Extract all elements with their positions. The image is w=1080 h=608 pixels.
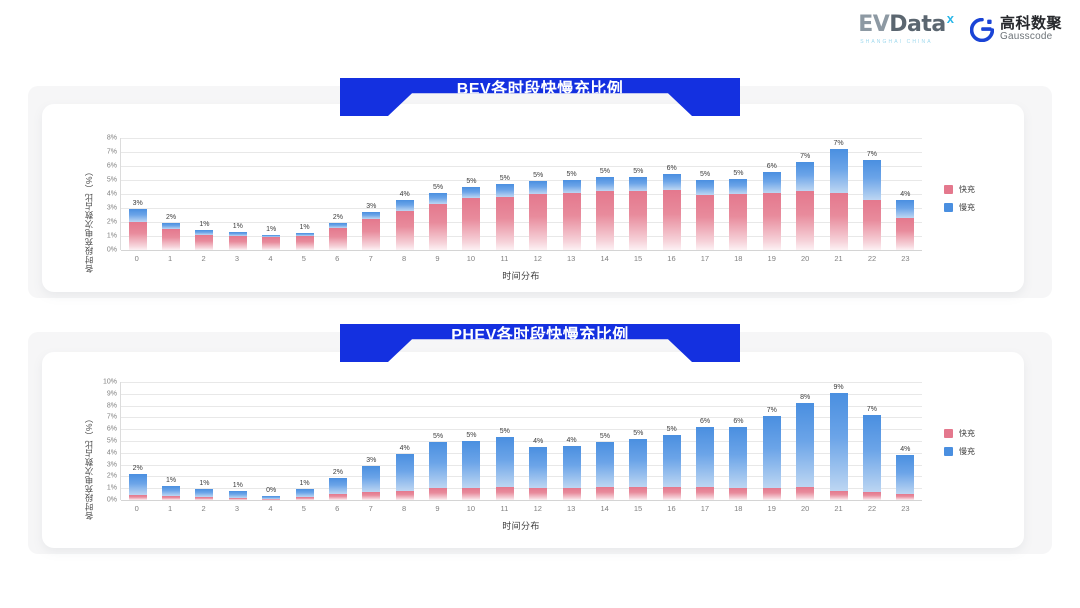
chart-legend-phev: 快充 慢充	[944, 428, 975, 457]
x-tick-phev-19: 19	[755, 504, 788, 513]
bar-phev-22[interactable]: 7%	[855, 382, 888, 500]
bar-segment-slow-phev	[229, 491, 247, 498]
bar-segment-slow-bev	[429, 193, 447, 204]
x-tick-phev-1: 1	[153, 504, 186, 513]
bar-stack-phev	[496, 382, 514, 500]
bar-value-label-bev: 7%	[867, 151, 877, 158]
chart-phev: 各时段充电次数占比（%） 0%1%2%3%4%5%6%7%8%9%10% 2%1…	[82, 382, 922, 534]
x-tick-bev-23: 23	[889, 254, 922, 263]
bar-bev-22[interactable]: 7%	[855, 138, 888, 250]
x-tick-bev-1: 1	[153, 254, 186, 263]
bar-segment-slow-phev	[696, 427, 714, 487]
bar-stack-bev	[229, 138, 247, 250]
bar-stack-phev	[696, 382, 714, 500]
bar-value-label-phev: 2%	[333, 469, 343, 476]
slide-page: EVData x shanghai china 高科数聚 Gausscode B…	[0, 0, 1080, 608]
bar-stack-bev	[362, 138, 380, 250]
y-tick-bev: 7%	[107, 149, 117, 156]
bar-segment-fast-bev	[896, 218, 914, 250]
x-tick-phev-12: 12	[521, 504, 554, 513]
x-tick-bev-19: 19	[755, 254, 788, 263]
bar-segment-fast-bev	[496, 197, 514, 250]
bar-value-label-phev: 1%	[199, 480, 209, 487]
bar-value-label-bev: 1%	[266, 226, 276, 233]
bar-segment-fast-phev	[529, 488, 547, 500]
x-tick-phev-17: 17	[688, 504, 721, 513]
bar-phev-19[interactable]: 7%	[755, 382, 788, 500]
bar-stack-phev	[830, 382, 848, 500]
bar-segment-fast-phev	[362, 492, 380, 500]
x-tick-phev-22: 22	[855, 504, 888, 513]
gridline-bev	[121, 250, 922, 251]
x-tick-phev-13: 13	[554, 504, 587, 513]
bar-bev-16[interactable]: 6%	[655, 138, 688, 250]
bar-phev-23[interactable]: 4%	[889, 382, 922, 500]
bar-segment-fast-phev	[129, 495, 147, 500]
bar-value-label-phev: 6%	[733, 418, 743, 425]
bar-value-label-phev: 3%	[366, 457, 376, 464]
bar-stack-phev	[396, 382, 414, 500]
bar-segment-slow-bev	[563, 180, 581, 193]
bar-bev-9[interactable]: 5%	[421, 138, 454, 250]
plot-grid-bev: 3%2%1%1%1%1%2%3%4%5%5%5%5%5%5%5%6%5%5%6%…	[120, 138, 922, 250]
x-tick-phev-11: 11	[488, 504, 521, 513]
y-tick-bev: 4%	[107, 191, 117, 198]
bar-value-label-bev: 5%	[600, 168, 610, 175]
bar-stack-bev	[262, 138, 280, 250]
brand-logo-bar: EVData x shanghai china 高科数聚 Gausscode	[858, 14, 1062, 45]
evdata-wordmark: EVData x	[858, 14, 954, 36]
bar-segment-fast-bev	[663, 190, 681, 250]
bar-value-label-bev: 6%	[767, 163, 777, 170]
bar-stack-phev	[462, 382, 480, 500]
x-tick-phev-0: 0	[120, 504, 153, 513]
x-tick-bev-16: 16	[655, 254, 688, 263]
bar-value-label-phev: 1%	[300, 480, 310, 487]
bar-stack-phev	[896, 382, 914, 500]
bar-segment-fast-phev	[830, 491, 848, 500]
x-tick-bev-3: 3	[220, 254, 253, 263]
gausscode-en-name: Gausscode	[1000, 32, 1062, 43]
bar-stack-phev	[663, 382, 681, 500]
bar-stack-bev	[763, 138, 781, 250]
bar-value-label-bev: 6%	[667, 165, 677, 172]
x-tick-phev-23: 23	[889, 504, 922, 513]
x-tick-phev-9: 9	[421, 504, 454, 513]
bar-phev-2[interactable]: 1%	[188, 382, 221, 500]
bar-bev-12[interactable]: 5%	[522, 138, 555, 250]
bar-segment-slow-phev	[462, 441, 480, 488]
bar-segment-fast-phev	[429, 488, 447, 500]
bar-segment-slow-bev	[496, 184, 514, 197]
bar-phev-18[interactable]: 6%	[722, 382, 755, 500]
legend-swatch-slow-bev	[944, 203, 953, 212]
bar-segment-fast-phev	[296, 497, 314, 500]
y-tick-bev: 6%	[107, 163, 117, 170]
bar-value-label-phev: 4%	[533, 438, 543, 445]
x-tick-bev-20: 20	[788, 254, 821, 263]
bar-bev-6[interactable]: 2%	[321, 138, 354, 250]
bar-phev-7[interactable]: 3%	[355, 382, 388, 500]
bar-phev-11[interactable]: 5%	[488, 382, 521, 500]
bar-segment-slow-bev	[729, 179, 747, 194]
bar-stack-bev	[663, 138, 681, 250]
bar-value-label-bev: 4%	[400, 191, 410, 198]
bar-value-label-bev: 3%	[366, 203, 376, 210]
y-tick-phev: 3%	[107, 461, 117, 468]
bar-segment-fast-bev	[229, 236, 247, 250]
bar-bev-19[interactable]: 6%	[755, 138, 788, 250]
evdata-tagline: shanghai china	[860, 39, 932, 45]
legend-swatch-slow-phev	[944, 447, 953, 456]
x-tick-bev-8: 8	[387, 254, 420, 263]
bar-bev-18[interactable]: 5%	[722, 138, 755, 250]
bar-segment-fast-phev	[195, 497, 213, 500]
evdata-text: EVData	[858, 14, 946, 36]
bar-phev-14[interactable]: 5%	[588, 382, 621, 500]
bar-value-label-bev: 2%	[333, 214, 343, 221]
bar-phev-13[interactable]: 4%	[555, 382, 588, 500]
bar-segment-fast-bev	[262, 237, 280, 250]
y-axis-ticks-bev: 0%1%2%3%4%5%6%7%8%	[96, 138, 120, 284]
bar-value-label-bev: 5%	[466, 178, 476, 185]
x-tick-phev-4: 4	[254, 504, 287, 513]
bar-segment-slow-phev	[129, 474, 147, 495]
bar-value-label-bev: 5%	[567, 171, 577, 178]
bar-stack-bev	[496, 138, 514, 250]
bar-stack-bev	[563, 138, 581, 250]
bar-stack-bev	[629, 138, 647, 250]
bar-stack-bev	[296, 138, 314, 250]
bar-stack-phev	[629, 382, 647, 500]
x-tick-phev-21: 21	[822, 504, 855, 513]
bar-segment-fast-bev	[396, 211, 414, 250]
x-tick-phev-14: 14	[588, 504, 621, 513]
bar-segment-fast-bev	[563, 193, 581, 250]
bar-segment-fast-bev	[296, 236, 314, 250]
x-tick-phev-18: 18	[722, 504, 755, 513]
x-tick-phev-3: 3	[220, 504, 253, 513]
bar-segment-slow-bev	[830, 149, 848, 192]
bar-segment-slow-phev	[529, 447, 547, 488]
bar-segment-fast-phev	[896, 494, 914, 500]
bar-bev-3[interactable]: 1%	[221, 138, 254, 250]
bar-segment-fast-phev	[763, 488, 781, 500]
legend-label-slow-phev: 慢充	[959, 446, 975, 457]
bar-phev-1[interactable]: 1%	[154, 382, 187, 500]
gausscode-logo: 高科数聚 Gausscode	[970, 16, 1062, 42]
y-tick-phev: 0%	[107, 497, 117, 504]
bar-segment-slow-bev	[129, 209, 147, 222]
x-tick-bev-21: 21	[822, 254, 855, 263]
x-tick-phev-20: 20	[788, 504, 821, 513]
bar-segment-slow-phev	[329, 478, 347, 495]
bar-stack-phev	[863, 382, 881, 500]
plot-area-phev: 2%1%1%1%0%1%2%3%4%5%5%5%4%4%5%5%5%6%6%7%…	[120, 382, 922, 534]
legend-label-fast-bev: 快充	[959, 184, 975, 195]
y-tick-phev: 2%	[107, 473, 117, 480]
bar-value-label-phev: 4%	[567, 437, 577, 444]
bar-segment-slow-phev	[863, 415, 881, 492]
bar-segment-fast-phev	[262, 499, 280, 500]
bar-segment-slow-phev	[596, 442, 614, 487]
bar-group-bev: 3%2%1%1%1%1%2%3%4%5%5%5%5%5%5%5%6%5%5%6%…	[121, 138, 922, 250]
bar-bev-17[interactable]: 5%	[688, 138, 721, 250]
bar-segment-fast-bev	[529, 194, 547, 250]
bar-value-label-bev: 5%	[533, 172, 543, 179]
bar-bev-1[interactable]: 2%	[154, 138, 187, 250]
bar-value-label-bev: 7%	[834, 140, 844, 147]
legend-swatch-fast-bev	[944, 185, 953, 194]
y-tick-bev: 8%	[107, 135, 117, 142]
bar-value-label-phev: 2%	[133, 465, 143, 472]
bar-value-label-phev: 0%	[266, 487, 276, 494]
bar-segment-fast-phev	[596, 487, 614, 500]
y-tick-phev: 10%	[103, 379, 117, 386]
bar-stack-phev	[129, 382, 147, 500]
bar-segment-slow-bev	[696, 180, 714, 195]
x-tick-phev-8: 8	[387, 504, 420, 513]
bar-value-label-phev: 5%	[466, 432, 476, 439]
bar-stack-phev	[763, 382, 781, 500]
bar-segment-fast-bev	[763, 193, 781, 250]
bar-stack-bev	[529, 138, 547, 250]
x-tick-phev-16: 16	[655, 504, 688, 513]
legend-item-slow-bev[interactable]: 慢充	[944, 202, 975, 213]
bar-segment-fast-bev	[362, 219, 380, 250]
bar-segment-fast-phev	[496, 487, 514, 500]
y-tick-phev: 1%	[107, 485, 117, 492]
bar-value-label-phev: 8%	[800, 394, 810, 401]
bar-segment-fast-bev	[329, 228, 347, 250]
bar-value-label-bev: 5%	[633, 168, 643, 175]
bar-stack-bev	[195, 138, 213, 250]
bar-segment-slow-phev	[195, 489, 213, 497]
bar-segment-slow-phev	[629, 439, 647, 487]
x-tick-bev-9: 9	[421, 254, 454, 263]
bar-segment-fast-phev	[729, 488, 747, 500]
bar-bev-23[interactable]: 4%	[889, 138, 922, 250]
x-tick-bev-22: 22	[855, 254, 888, 263]
bar-segment-slow-bev	[529, 181, 547, 194]
evdata-logo: EVData x shanghai china	[858, 14, 954, 45]
bar-value-label-bev: 1%	[300, 224, 310, 231]
bar-phev-15[interactable]: 5%	[622, 382, 655, 500]
bar-phev-16[interactable]: 5%	[655, 382, 688, 500]
evdata-data-part: Data	[889, 12, 945, 37]
x-tick-bev-4: 4	[254, 254, 287, 263]
bar-stack-phev	[729, 382, 747, 500]
bar-value-label-bev: 5%	[700, 171, 710, 178]
bar-segment-fast-phev	[396, 491, 414, 500]
bar-segment-fast-bev	[462, 198, 480, 250]
bar-segment-slow-phev	[796, 403, 814, 487]
bar-value-label-phev: 5%	[600, 433, 610, 440]
bar-stack-bev	[129, 138, 147, 250]
bar-segment-slow-phev	[896, 455, 914, 494]
legend-item-fast-bev[interactable]: 快充	[944, 184, 975, 195]
x-axis-label-bev: 时间分布	[120, 269, 922, 282]
bar-stack-bev	[462, 138, 480, 250]
y-tick-phev: 8%	[107, 402, 117, 409]
bar-bev-11[interactable]: 5%	[488, 138, 521, 250]
bar-value-label-phev: 4%	[900, 446, 910, 453]
bar-value-label-phev: 6%	[700, 418, 710, 425]
x-tick-phev-15: 15	[621, 504, 654, 513]
bar-segment-fast-bev	[429, 204, 447, 250]
bar-stack-bev	[162, 138, 180, 250]
bar-bev-14[interactable]: 5%	[588, 138, 621, 250]
legend-item-fast-phev[interactable]: 快充	[944, 428, 975, 439]
bar-stack-bev	[429, 138, 447, 250]
x-tick-bev-14: 14	[588, 254, 621, 263]
bar-segment-fast-phev	[863, 492, 881, 500]
bar-value-label-bev: 7%	[800, 153, 810, 160]
bar-value-label-phev: 5%	[633, 430, 643, 437]
x-axis-ticks-bev: 01234567891011121314151617181920212223	[120, 254, 922, 263]
bar-segment-slow-bev	[763, 172, 781, 193]
bar-segment-slow-bev	[596, 177, 614, 191]
bar-phev-9[interactable]: 5%	[421, 382, 454, 500]
bar-phev-17[interactable]: 6%	[688, 382, 721, 500]
x-tick-phev-2: 2	[187, 504, 220, 513]
y-tick-phev: 9%	[107, 390, 117, 397]
bar-segment-fast-bev	[162, 229, 180, 250]
bar-stack-bev	[596, 138, 614, 250]
x-tick-bev-2: 2	[187, 254, 220, 263]
bar-segment-slow-phev	[496, 437, 514, 487]
bar-value-label-bev: 5%	[500, 175, 510, 182]
bar-bev-5[interactable]: 1%	[288, 138, 321, 250]
bar-segment-fast-bev	[796, 191, 814, 250]
bar-segment-fast-phev	[696, 487, 714, 500]
bar-bev-4[interactable]: 1%	[255, 138, 288, 250]
bar-segment-fast-phev	[796, 487, 814, 500]
y-tick-bev: 2%	[107, 219, 117, 226]
x-tick-bev-10: 10	[454, 254, 487, 263]
bar-value-label-phev: 9%	[834, 384, 844, 391]
bar-segment-slow-phev	[429, 442, 447, 488]
bar-segment-fast-phev	[629, 487, 647, 500]
legend-label-fast-phev: 快充	[959, 428, 975, 439]
x-tick-phev-10: 10	[454, 504, 487, 513]
y-axis-label-phev: 各时段充电次数占比（%）	[82, 382, 96, 534]
bar-segment-slow-phev	[162, 486, 180, 497]
bar-segment-fast-bev	[129, 222, 147, 250]
y-axis-ticks-phev: 0%1%2%3%4%5%6%7%8%9%10%	[96, 382, 120, 534]
bar-segment-fast-phev	[462, 488, 480, 500]
bar-phev-0[interactable]: 2%	[121, 382, 154, 500]
x-tick-bev-11: 11	[488, 254, 521, 263]
bar-segment-fast-phev	[329, 494, 347, 500]
bar-stack-phev	[362, 382, 380, 500]
bar-stack-bev	[729, 138, 747, 250]
x-axis-label-phev: 时间分布	[120, 519, 922, 532]
plot-area-bev: 3%2%1%1%1%1%2%3%4%5%5%5%5%5%5%5%6%5%5%6%…	[120, 138, 922, 284]
bar-value-label-bev: 1%	[199, 221, 209, 228]
bar-value-label-phev: 5%	[500, 428, 510, 435]
bar-bev-20[interactable]: 7%	[789, 138, 822, 250]
bar-segment-fast-phev	[563, 488, 581, 500]
bar-phev-3[interactable]: 1%	[221, 382, 254, 500]
x-tick-phev-5: 5	[287, 504, 320, 513]
y-tick-phev: 4%	[107, 449, 117, 456]
evdata-superscript-x: x	[947, 11, 954, 26]
x-tick-bev-18: 18	[722, 254, 755, 263]
bar-value-label-bev: 1%	[233, 223, 243, 230]
bar-segment-slow-bev	[629, 177, 647, 191]
bar-bev-15[interactable]: 5%	[622, 138, 655, 250]
bar-value-label-bev: 4%	[900, 191, 910, 198]
bar-phev-4[interactable]: 0%	[255, 382, 288, 500]
y-tick-bev: 5%	[107, 177, 117, 184]
bar-bev-0[interactable]: 3%	[121, 138, 154, 250]
bar-value-label-bev: 2%	[166, 214, 176, 221]
legend-item-slow-phev[interactable]: 慢充	[944, 446, 975, 457]
y-tick-phev: 5%	[107, 438, 117, 445]
bar-segment-slow-phev	[729, 427, 747, 488]
bar-segment-fast-phev	[229, 498, 247, 500]
bar-bev-8[interactable]: 4%	[388, 138, 421, 250]
bar-phev-5[interactable]: 1%	[288, 382, 321, 500]
bar-phev-12[interactable]: 4%	[522, 382, 555, 500]
bar-bev-7[interactable]: 3%	[355, 138, 388, 250]
x-tick-bev-6: 6	[321, 254, 354, 263]
y-tick-phev: 7%	[107, 414, 117, 421]
gridline-phev	[121, 500, 922, 501]
bar-value-label-phev: 5%	[667, 426, 677, 433]
bar-segment-slow-bev	[863, 160, 881, 199]
bar-segment-slow-phev	[763, 416, 781, 488]
gausscode-text: 高科数聚 Gausscode	[1000, 16, 1062, 42]
bar-stack-bev	[696, 138, 714, 250]
bar-bev-10[interactable]: 5%	[455, 138, 488, 250]
legend-swatch-fast-phev	[944, 429, 953, 438]
bar-stack-phev	[429, 382, 447, 500]
bar-phev-8[interactable]: 4%	[388, 382, 421, 500]
bar-phev-6[interactable]: 2%	[321, 382, 354, 500]
bar-segment-fast-bev	[696, 195, 714, 250]
bar-phev-21[interactable]: 9%	[822, 382, 855, 500]
bar-value-label-bev: 3%	[133, 200, 143, 207]
bar-segment-slow-bev	[396, 200, 414, 211]
x-tick-bev-0: 0	[120, 254, 153, 263]
bar-segment-slow-bev	[796, 162, 814, 191]
bar-bev-2[interactable]: 1%	[188, 138, 221, 250]
bar-segment-slow-bev	[362, 212, 380, 219]
bar-bev-13[interactable]: 5%	[555, 138, 588, 250]
y-tick-phev: 6%	[107, 426, 117, 433]
bar-phev-10[interactable]: 5%	[455, 382, 488, 500]
x-tick-phev-6: 6	[321, 504, 354, 513]
bar-value-label-bev: 5%	[433, 184, 443, 191]
bar-value-label-phev: 7%	[767, 407, 777, 414]
bar-segment-slow-phev	[663, 435, 681, 487]
bar-segment-slow-bev	[663, 174, 681, 189]
bar-phev-20[interactable]: 8%	[789, 382, 822, 500]
bar-segment-slow-bev	[462, 187, 480, 198]
y-tick-bev: 0%	[107, 247, 117, 254]
bar-segment-fast-bev	[729, 194, 747, 250]
bar-segment-slow-bev	[896, 200, 914, 218]
x-tick-phev-7: 7	[354, 504, 387, 513]
legend-label-slow-bev: 慢充	[959, 202, 975, 213]
bar-segment-fast-bev	[629, 191, 647, 250]
bar-bev-21[interactable]: 7%	[822, 138, 855, 250]
x-tick-bev-15: 15	[621, 254, 654, 263]
y-tick-bev: 1%	[107, 233, 117, 240]
bar-segment-fast-bev	[830, 193, 848, 250]
